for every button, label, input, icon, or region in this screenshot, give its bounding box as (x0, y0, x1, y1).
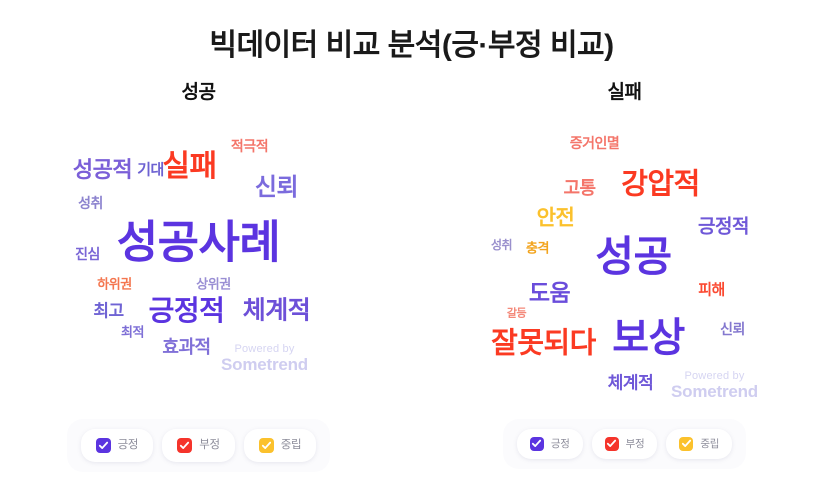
wordcloud-word[interactable]: 피해 (698, 282, 725, 297)
wordcloud-word[interactable]: 효과적 (162, 338, 210, 356)
panel-failure: 실패 성공보상잘못되다강압적도움안전긍정적고통체계적증거인멸피해신뢰충격성취갈등… (475, 82, 775, 469)
legend-label: 긍정 (551, 439, 570, 450)
panel-header-failure: 실패 (608, 82, 642, 105)
wordcloud-word[interactable]: 갈등 (507, 308, 526, 319)
wordcloud-word[interactable]: 긍정적 (698, 217, 749, 236)
check-icon[interactable] (605, 437, 619, 451)
check-icon[interactable] (259, 438, 274, 453)
wordcloud-word[interactable]: 하위권 (97, 277, 131, 290)
wordcloud-stage: 성공보상잘못되다강압적도움안전긍정적고통체계적증거인멸피해신뢰충격성취갈등 (475, 119, 775, 419)
wordcloud-word[interactable]: 성공적 (73, 159, 132, 181)
wordcloud-word[interactable]: 충격 (526, 241, 549, 254)
wordcloud-word[interactable]: 적극적 (231, 139, 268, 153)
wordcloud-word[interactable]: 체계적 (608, 374, 653, 391)
wordcloud-word[interactable]: 체계적 (243, 298, 311, 323)
legend-label: 긍정 (118, 440, 139, 452)
wordcloud-word[interactable]: 기대 (137, 162, 164, 177)
wordcloud-word[interactable]: 신뢰 (720, 322, 745, 336)
check-icon[interactable] (177, 438, 192, 453)
legend-chip-positive[interactable]: 긍정 (517, 429, 583, 459)
comparison-panels: 성공 성공사례실패긍정적체계적성공적신뢰효과적최고기대적극적성취진심하위권상위권… (0, 82, 823, 472)
wordcloud-word[interactable]: 상위권 (196, 277, 230, 290)
wordcloud-word[interactable]: 고통 (563, 179, 595, 197)
wordcloud-stage: 성공사례실패긍정적체계적성공적신뢰효과적최고기대적극적성취진심하위권상위권최적 (49, 119, 349, 419)
wordcloud-word[interactable]: 최적 (121, 325, 144, 338)
wordcloud-word[interactable]: 보상 (612, 318, 685, 358)
legend-chip-negative[interactable]: 부정 (162, 429, 235, 462)
legend-chip-neutral[interactable]: 중립 (666, 429, 732, 459)
wordcloud-word[interactable]: 긍정적 (149, 297, 225, 325)
check-icon[interactable] (96, 438, 111, 453)
wordcloud-word[interactable]: 강압적 (621, 170, 700, 199)
wordcloud-failure: 성공보상잘못되다강압적도움안전긍정적고통체계적증거인멸피해신뢰충격성취갈등 Po… (475, 119, 775, 419)
panel-header-success: 성공 (182, 82, 216, 105)
check-icon[interactable] (679, 437, 693, 451)
wordcloud-word[interactable]: 성공 (595, 236, 671, 278)
wordcloud-word[interactable]: 잘못되다 (491, 329, 596, 358)
check-icon[interactable] (530, 437, 544, 451)
legend-chip-negative[interactable]: 부정 (592, 429, 658, 459)
wordcloud-success: 성공사례실패긍정적체계적성공적신뢰효과적최고기대적극적성취진심하위권상위권최적 … (49, 119, 349, 419)
legend-label: 중립 (700, 439, 719, 450)
wordcloud-word[interactable]: 성취 (491, 239, 512, 251)
wordcloud-word[interactable]: 성취 (78, 196, 103, 210)
wordcloud-word[interactable]: 최고 (93, 302, 123, 319)
wordcloud-word[interactable]: 증거인멸 (570, 136, 620, 150)
wordcloud-word[interactable]: 실패 (162, 152, 216, 182)
legend-chip-neutral[interactable]: 중립 (244, 429, 317, 462)
page-title: 빅데이터 비교 분석(긍·부정 비교) (0, 0, 823, 64)
legend-label: 부정 (626, 439, 645, 450)
wordcloud-word[interactable]: 도움 (529, 281, 570, 304)
wordcloud-word[interactable]: 진심 (75, 247, 100, 261)
wordcloud-word[interactable]: 성공사례 (117, 219, 281, 264)
legend-label: 부정 (199, 440, 220, 452)
wordcloud-word[interactable]: 안전 (537, 207, 575, 228)
legend-label: 중립 (281, 440, 302, 452)
sentiment-legend-success: 긍정부정중립 (67, 419, 331, 472)
wordcloud-word[interactable]: 신뢰 (255, 176, 298, 200)
legend-chip-positive[interactable]: 긍정 (81, 429, 154, 462)
sentiment-legend-failure: 긍정부정중립 (503, 419, 746, 469)
panel-success: 성공 성공사례실패긍정적체계적성공적신뢰효과적최고기대적극적성취진심하위권상위권… (49, 82, 349, 472)
